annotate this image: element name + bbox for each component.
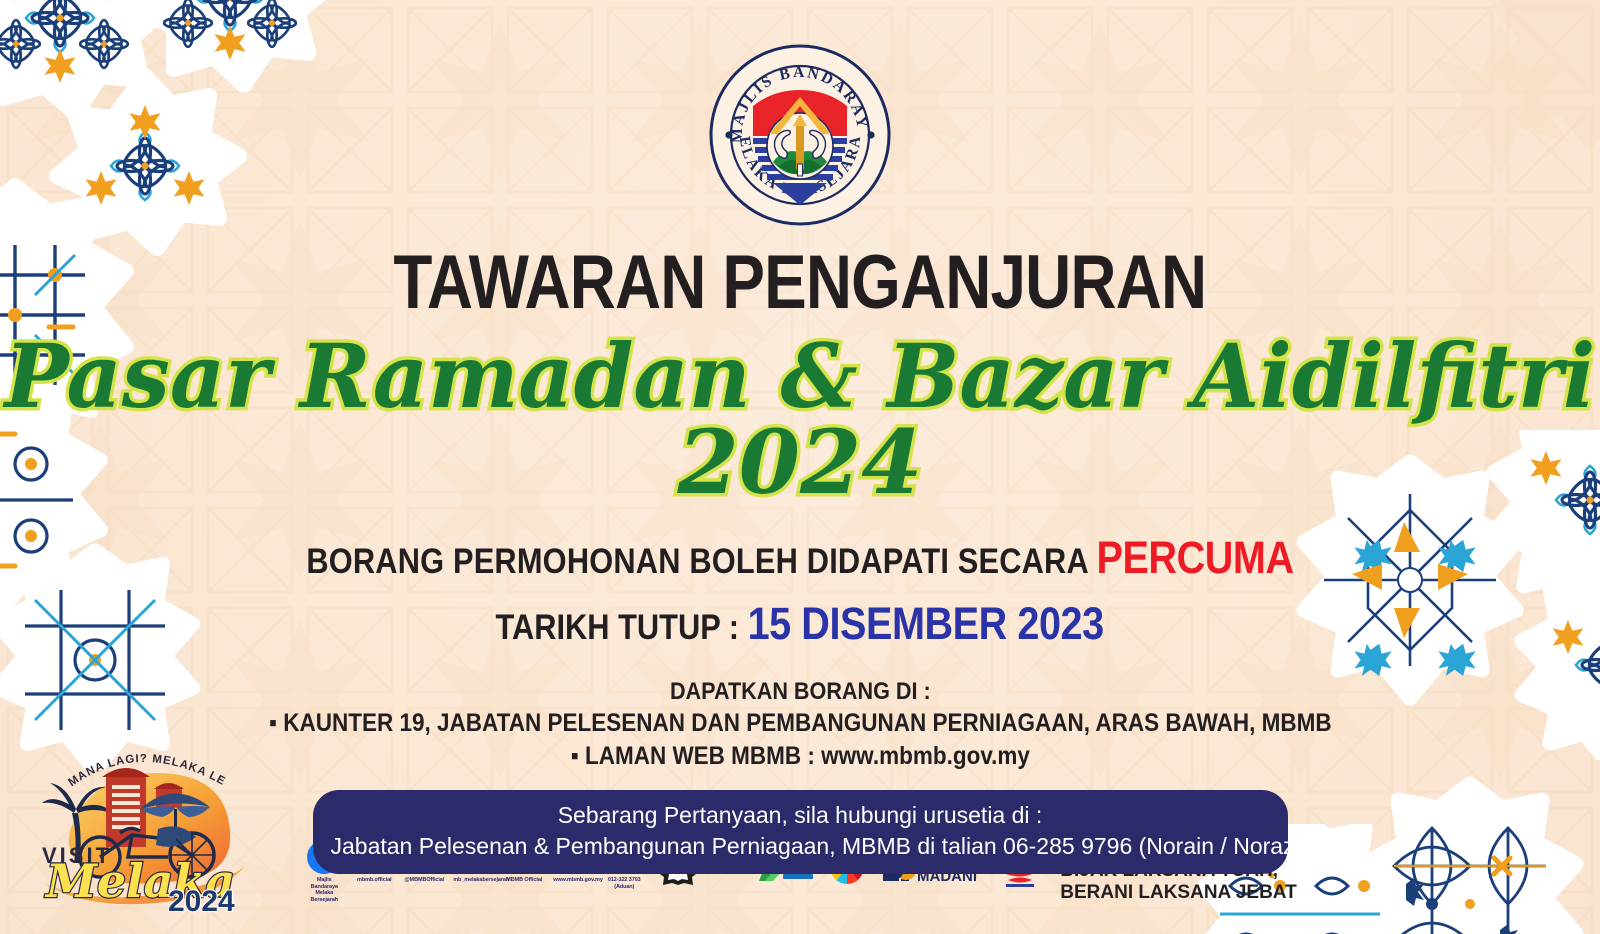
poster-canvas: MAJLIS BANDARAYA MELAKA BERSEJARAH	[0, 0, 1600, 934]
event-title-line1: Pasar Ramadan & Bazar Aidilfitri	[5, 335, 1596, 419]
event-title: Pasar Ramadan & Bazar Aidilfitri 2024	[0, 335, 1600, 504]
page-title: TAWARAN PENGANJURAN	[394, 245, 1207, 321]
free-form-prefix: BORANG PERMOHONAN BOLEH DIDAPATI SECARA	[306, 542, 1096, 581]
deadline-notice: TARIKH TUTUP : 15 DISEMBER 2023	[496, 598, 1104, 650]
form-location-website[interactable]: ▪ LAMAN WEB MBMB : www.mbmb.gov.my	[269, 740, 1332, 773]
contact-banner: Sebarang Pertanyaan, sila hubungi uruset…	[313, 790, 1288, 874]
free-form-notice: BORANG PERMOHONAN BOLEH DIDAPATI SECARA …	[306, 532, 1293, 584]
deadline-date: 15 DISEMBER 2023	[748, 598, 1104, 649]
form-locations: DAPATKAN BORANG DI : ▪ KAUNTER 19, JABAT…	[210, 676, 1391, 772]
mbmb-crest-icon: MAJLIS BANDARAYA MELAKA BERSEJARAH	[707, 42, 893, 233]
contact-line-2: Jabatan Pelesenan & Pembangunan Perniaga…	[331, 831, 1270, 862]
contact-line-1: Sebarang Pertanyaan, sila hubungi uruset…	[331, 800, 1270, 831]
event-title-year: 2024	[0, 421, 1600, 505]
free-badge: PERCUMA	[1097, 532, 1294, 583]
form-location-counter: ▪ KAUNTER 19, JABATAN PELESENAN DAN PEMB…	[269, 707, 1332, 740]
form-locations-heading: DAPATKAN BORANG DI :	[269, 676, 1332, 707]
deadline-prefix: TARIKH TUTUP :	[496, 608, 748, 647]
